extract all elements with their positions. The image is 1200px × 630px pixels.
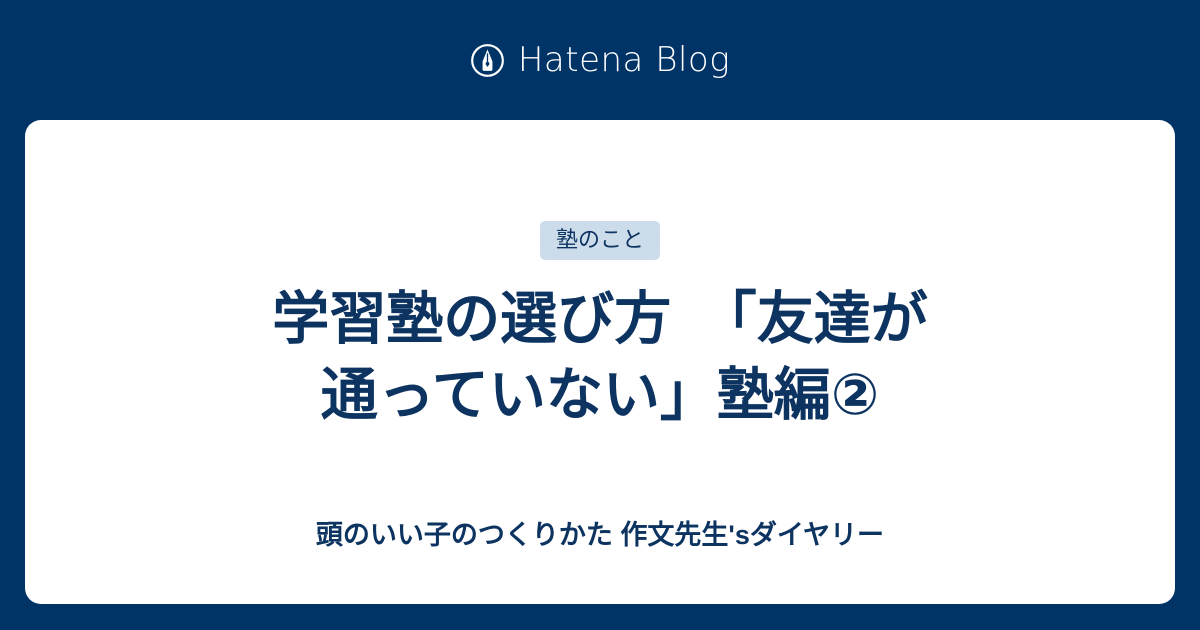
hatena-brand-name: Hatena Blog (518, 43, 730, 77)
category-row: 塾のこと (85, 221, 1115, 260)
hatena-brand-bar: Hatena Blog (0, 0, 1200, 120)
entry-title-line-2: 通っていない」塾編② (272, 357, 928, 433)
blog-title: 頭のいい子のつくりかた 作文先生'sダイヤリー (316, 518, 884, 553)
entry-card-inner: 塾のこと 学習塾の選び方 「友達が 通っていない」塾編② 頭のいい子のつくりかた… (25, 120, 1175, 553)
entry-card: 塾のこと 学習塾の選び方 「友達が 通っていない」塾編② 頭のいい子のつくりかた… (25, 120, 1175, 604)
entry-title-line-1: 学習塾の選び方 「友達が (272, 281, 928, 357)
entry-category-tag[interactable]: 塾のこと (540, 221, 660, 260)
entry-title: 学習塾の選び方 「友達が 通っていない」塾編② (272, 281, 928, 433)
hatena-pen-nib-icon (470, 43, 505, 78)
